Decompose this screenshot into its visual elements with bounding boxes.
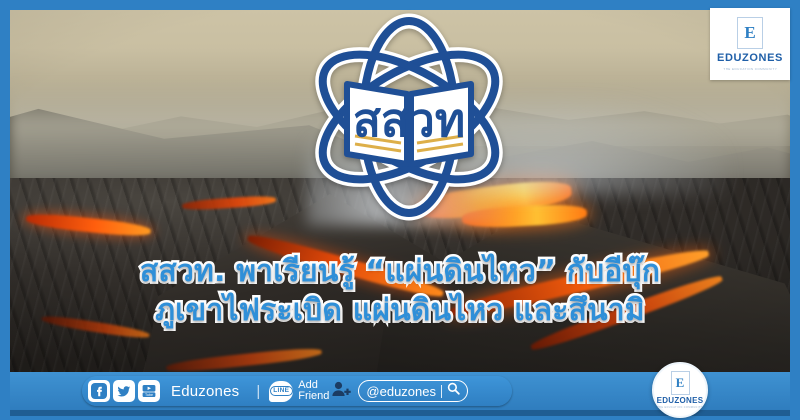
banner-canvas: สสวท สสวท. พาเรียนรู้ “แผ่นดินไหว” กับอี… — [0, 0, 800, 420]
frame-right — [790, 0, 800, 420]
eduzones-tagline: THE EDUCATION COMMUNITY — [657, 407, 703, 409]
add-friend-label[interactable]: Add Friend — [298, 380, 329, 402]
eduzones-wordmark: EDUZONES — [657, 397, 704, 405]
separator: | — [256, 383, 260, 400]
eduzones-letter-mark: E — [671, 371, 690, 395]
facebook-icon[interactable] — [88, 380, 110, 402]
line-icon-label: LINE — [270, 386, 293, 396]
eduzones-tagline: THE EDUCATION COMMUNITY — [723, 68, 777, 71]
svg-text:Tube: Tube — [145, 393, 153, 397]
handle-label: @eduzones — [366, 384, 436, 399]
emblem-text: สสวท — [353, 93, 465, 147]
frame-left — [0, 0, 10, 420]
eduzones-letter-mark: E — [737, 17, 763, 49]
brand-label: Eduzones — [171, 383, 239, 400]
frame-top — [0, 0, 800, 10]
page-title: สสวท. พาเรียนรู้ “แผ่นดินไหว” กับอีบุ๊ก … — [0, 252, 800, 330]
handle-search-field[interactable]: @eduzones — [358, 380, 468, 402]
youtube-icon[interactable]: Tube — [138, 380, 160, 402]
twitter-icon[interactable] — [113, 380, 135, 402]
line-icon[interactable]: LINE — [269, 381, 293, 402]
search-icon[interactable] — [447, 382, 460, 400]
add-person-icon[interactable] — [331, 380, 351, 403]
eduzones-circle-badge: E EDUZONES THE EDUCATION COMMUNITY — [652, 362, 708, 418]
eduzones-wordmark: EDUZONES — [717, 53, 783, 64]
handle-divider — [441, 385, 442, 398]
friend-label: Friend — [298, 391, 329, 402]
headline-line-2: ภูเขาไฟระเบิด แผ่นดินไหว และสึนามิ — [0, 291, 800, 330]
social-pill: Tube Eduzones | LINE Add Friend @eduzone… — [82, 376, 512, 406]
headline-line-1: สสวท. พาเรียนรู้ “แผ่นดินไหว” กับอีบุ๊ก — [0, 252, 800, 291]
eduzones-logo-card: E EDUZONES THE EDUCATION COMMUNITY — [710, 8, 790, 80]
ipst-logo: สสวท — [303, 12, 515, 222]
